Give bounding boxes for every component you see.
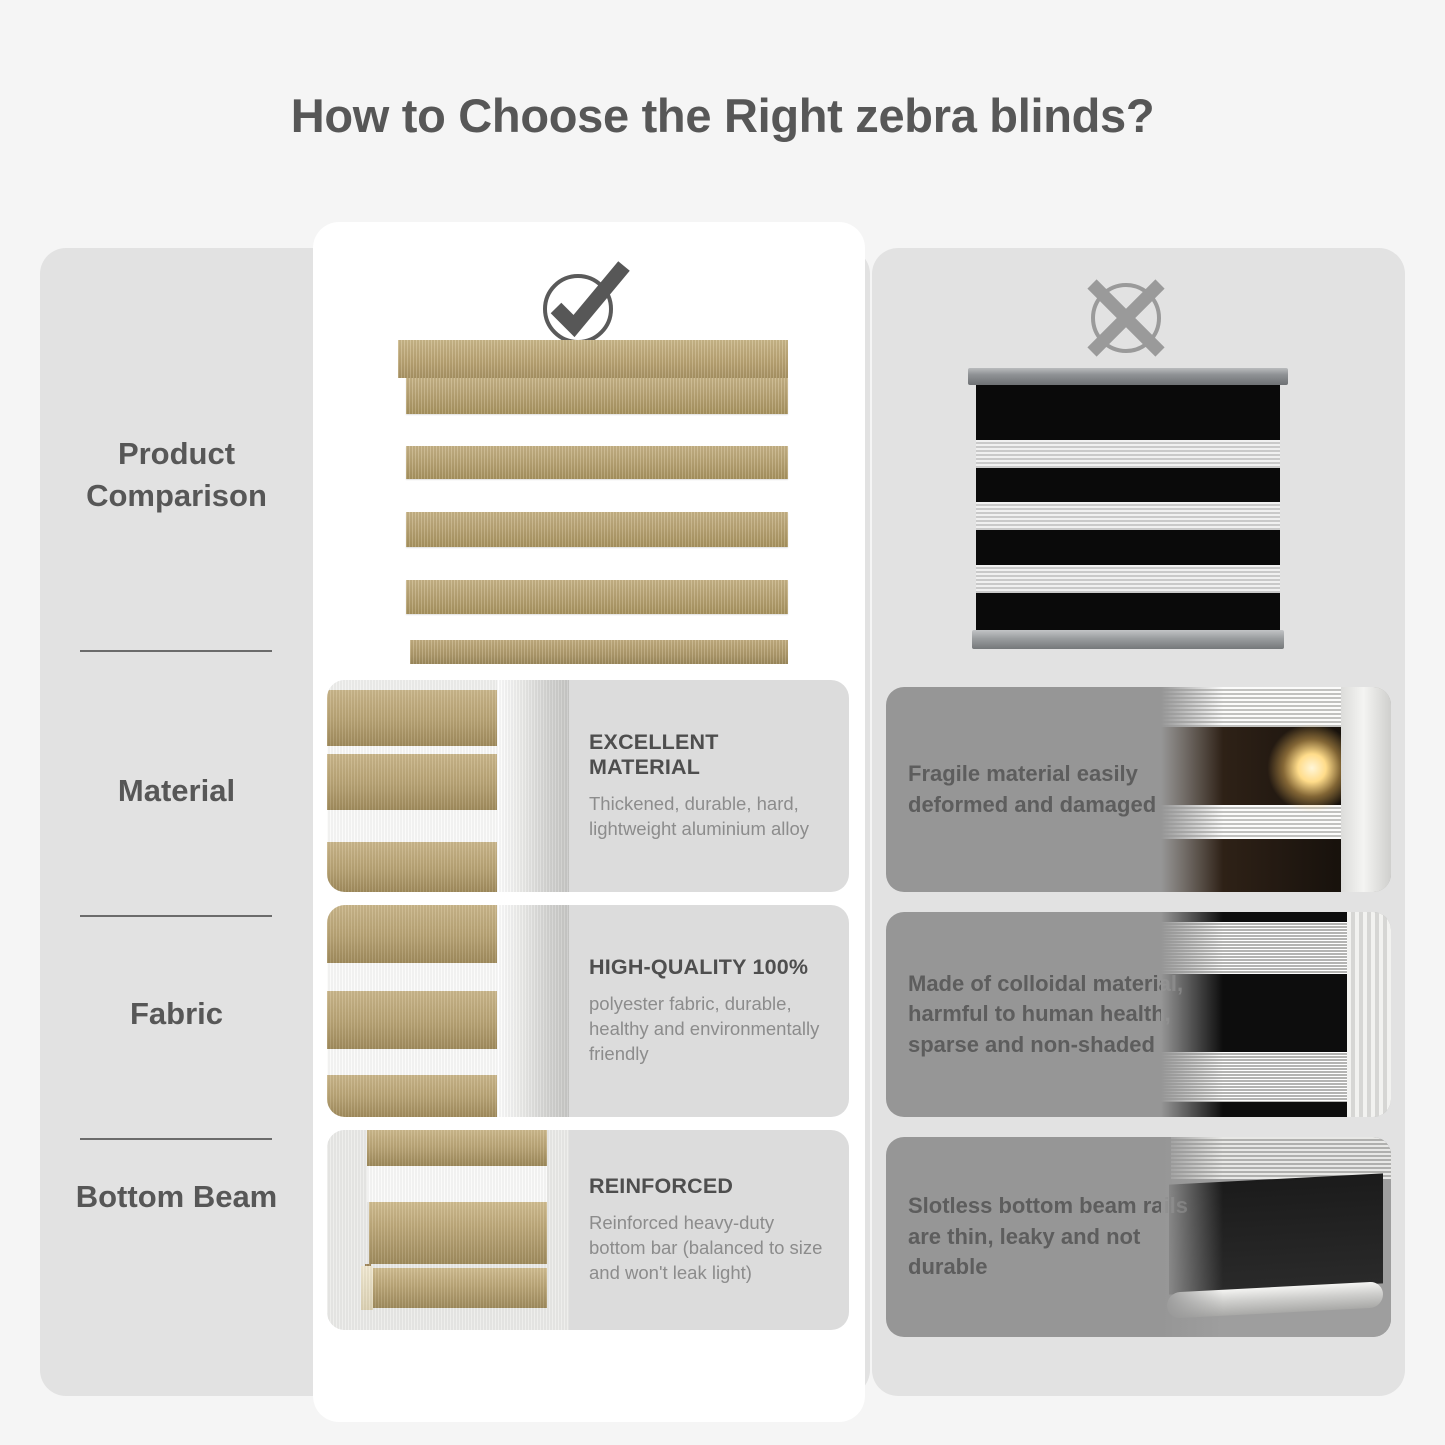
- negative-text: Made of colloidal material, harmful to h…: [908, 912, 1188, 1117]
- row-label-column: Product Comparison Material Fabric Botto…: [40, 248, 313, 1396]
- feature-card-fabric: HIGH-QUALITY 100% polyester fabric, dura…: [327, 905, 849, 1117]
- sunburst-window-leak-image: [1161, 687, 1391, 892]
- page-title: How to Choose the Right zebra blinds?: [0, 88, 1445, 143]
- feature-card-bottom-beam: REINFORCED Reinforced heavy-duty bottom …: [327, 1130, 849, 1330]
- feature-heading: HIGH-QUALITY 100%: [589, 955, 835, 980]
- beige-blind-window-closeup-image: [327, 680, 569, 892]
- negative-card-material: Fragile material easily deformed and dam…: [886, 687, 1391, 892]
- negative-card-bottom-beam: Slotless bottom beam rails are thin, lea…: [886, 1137, 1391, 1337]
- beige-blind-fabric-closeup-image: [327, 905, 569, 1117]
- black-sparse-blind-image: [1161, 912, 1391, 1117]
- row-label-product-comparison: Product Comparison: [40, 433, 313, 517]
- feature-heading: EXCELLENT MATERIAL: [589, 730, 835, 780]
- row-divider: [80, 650, 272, 652]
- negative-text: Fragile material easily deformed and dam…: [908, 687, 1188, 892]
- hero-black-zebra-blind: [968, 368, 1288, 653]
- beige-bottom-bar-closeup-image: [327, 1130, 569, 1330]
- row-label-bottom-beam: Bottom Beam: [40, 1176, 313, 1218]
- thin-bottom-rail-image: [1161, 1137, 1391, 1337]
- feature-description: Thickened, durable, hard, lightweight al…: [589, 792, 835, 842]
- row-label-fabric: Fabric: [40, 993, 313, 1035]
- negative-card-fabric: Made of colloidal material, harmful to h…: [886, 912, 1391, 1117]
- row-divider: [80, 915, 272, 917]
- check-circle-icon: [538, 258, 634, 348]
- feature-card-material: EXCELLENT MATERIAL Thickened, durable, h…: [327, 680, 849, 892]
- feature-heading: REINFORCED: [589, 1174, 835, 1199]
- row-divider: [80, 1138, 272, 1140]
- infographic-page: How to Choose the Right zebra blinds? Pr…: [0, 0, 1445, 1445]
- cross-circle-icon: [1080, 272, 1172, 364]
- feature-description: Reinforced heavy-duty bottom bar (balanc…: [589, 1211, 835, 1286]
- hero-beige-zebra-blind: [398, 340, 788, 665]
- feature-description: polyester fabric, durable, healthy and e…: [589, 992, 835, 1067]
- negative-text: Slotless bottom beam rails are thin, lea…: [908, 1137, 1188, 1337]
- row-label-material: Material: [40, 770, 313, 812]
